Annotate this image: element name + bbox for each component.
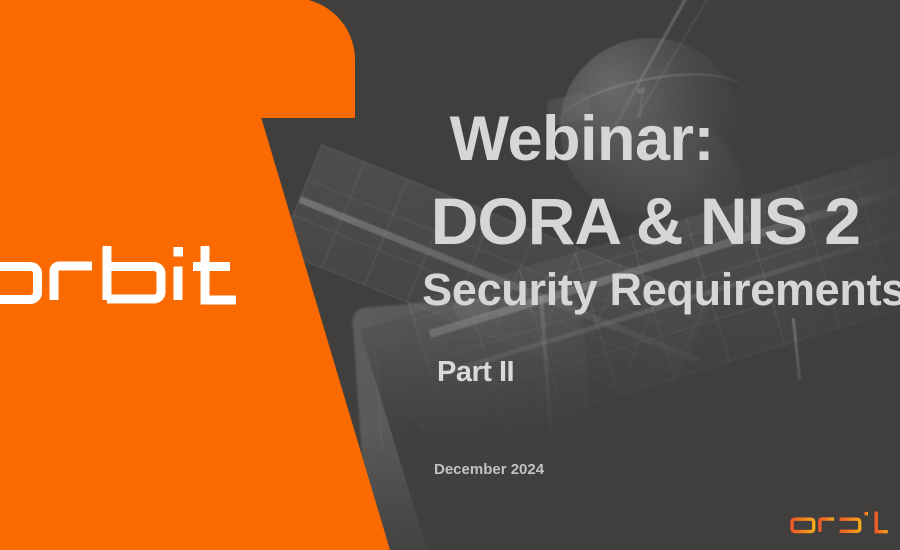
subtitle-part: Part II [437,358,514,387]
title-line-webinar: Webinar: [450,108,714,171]
orbit-logo-corner [790,506,890,538]
webinar-title-slide: Webinar: DORA & NIS 2 Security Requireme… [0,0,900,550]
title-block: Webinar: DORA & NIS 2 Security Requireme… [0,0,900,550]
subtitle-date: December 2024 [434,462,544,477]
title-line-dora-nis: DORA & NIS 2 [431,188,860,254]
title-line-security-requirements: Security Requirements [422,267,900,312]
